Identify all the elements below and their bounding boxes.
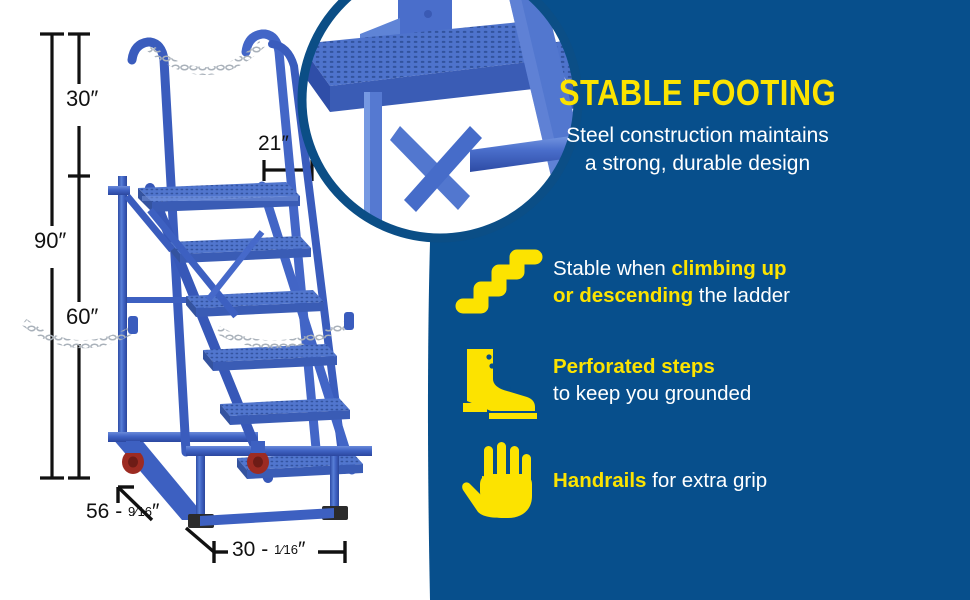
hand-icon <box>445 440 553 520</box>
subtitle-line-2: a strong, durable design <box>585 152 810 175</box>
feature-item-perforated-steps: Perforated stepsto keep you grounded <box>445 332 960 428</box>
feature-1-bold-1: Perforated steps <box>553 355 715 378</box>
feature-0-bold-1: climbing up <box>672 257 787 280</box>
infographic-canvas: 90″ 30″ 60″ 21″ 56 - 9⁄16″ 30 - 1⁄16″ <box>0 0 970 600</box>
feature-0-bold-2: or descending <box>553 284 693 307</box>
stairs-icon <box>445 248 553 316</box>
feature-0-tail: the ladder <box>693 284 790 307</box>
feature-text-handrails: Handrails for extra grip <box>553 467 767 494</box>
subtitle-line-1: Steel construction maintains <box>566 124 829 147</box>
boot-icon <box>445 341 553 419</box>
feature-1-line-2: to keep you grounded <box>553 382 751 405</box>
feature-item-climbing: Stable when climbing upor descending the… <box>445 234 960 330</box>
info-panel: STABLE FOOTING Steel construction mainta… <box>0 0 970 600</box>
page-title: STABLE FOOTING <box>463 72 932 114</box>
feature-2-tail: for extra grip <box>646 469 767 492</box>
feature-text-perforated-steps: Perforated stepsto keep you grounded <box>553 353 751 407</box>
page-subtitle: Steel construction maintains a strong, d… <box>425 122 970 178</box>
feature-0-lead: Stable when <box>553 257 672 280</box>
feature-item-handrails: Handrails for extra grip <box>445 432 960 528</box>
feature-2-bold-1: Handrails <box>553 469 646 492</box>
feature-text-climbing: Stable when climbing upor descending the… <box>553 255 790 309</box>
